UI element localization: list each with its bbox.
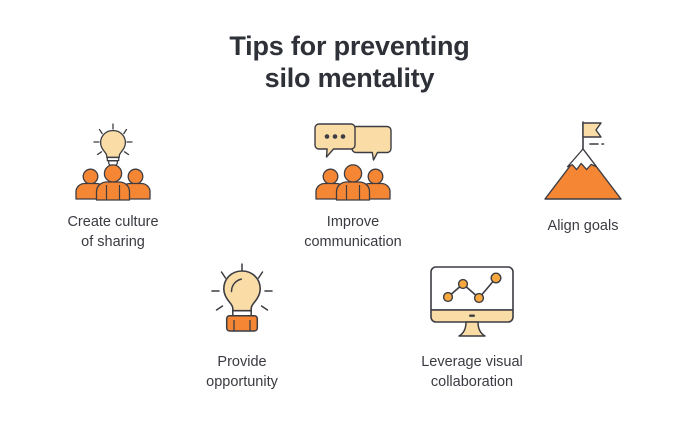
- tip-label-line-1: Leverage visual: [421, 354, 523, 370]
- tip-label-line-2: collaboration: [377, 372, 567, 392]
- tip-label: Provide opportunity: [147, 352, 337, 392]
- tip-label-line-2: communication: [258, 232, 448, 252]
- title-line-2: silo mentality: [0, 62, 699, 94]
- tip-label-line-1: Create culture: [67, 214, 158, 230]
- tip-label: Improve communication: [258, 212, 448, 252]
- people-with-lightbulb-icon: [18, 118, 208, 202]
- people-with-speech-bubbles-icon: [258, 118, 448, 202]
- page-title: Tips for preventing silo mentality: [0, 30, 699, 94]
- tip-label: Leverage visual collaboration: [377, 352, 567, 392]
- tip-label-line-1: Improve: [327, 214, 379, 230]
- mountain-with-flag-icon: [488, 118, 678, 206]
- tip-item-create-culture-of-sharing: Create culture of sharing: [18, 118, 208, 252]
- tip-item-leverage-visual-collaboration: Leverage visual collaboration: [377, 258, 567, 392]
- tip-label-line-2: opportunity: [147, 372, 337, 392]
- tip-label-line-1: Provide: [217, 354, 266, 370]
- lightbulb-icon: [147, 258, 337, 342]
- tip-label-line-2: of sharing: [18, 232, 208, 252]
- tip-item-improve-communication: Improve communication: [258, 118, 448, 252]
- tip-item-align-goals: Align goals: [488, 118, 678, 236]
- title-line-1: Tips for preventing: [0, 30, 699, 62]
- tip-item-provide-opportunity: Provide opportunity: [147, 258, 337, 392]
- tip-label: Align goals: [488, 216, 678, 236]
- tip-label-line-1: Align goals: [548, 218, 619, 234]
- tip-label: Create culture of sharing: [18, 212, 208, 252]
- infographic-poster: Tips for preventing silo mentality: [0, 0, 699, 437]
- monitor-line-chart-icon: [377, 258, 567, 342]
